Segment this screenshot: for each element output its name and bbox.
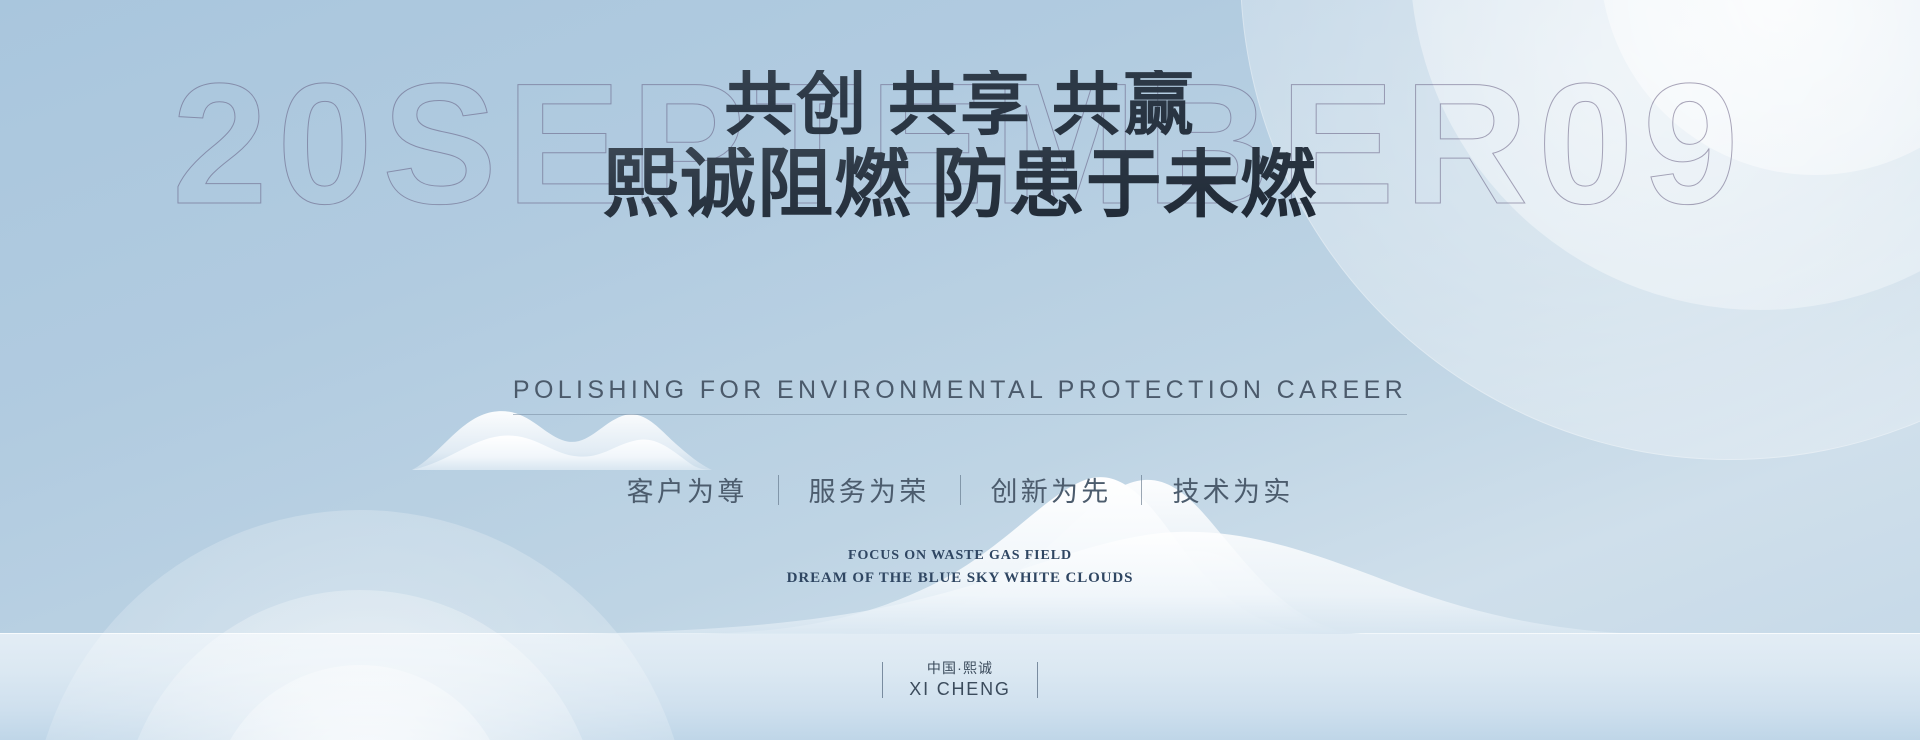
value-item-3: 创新为先 (991, 470, 1112, 509)
ground-edge-line (0, 633, 1920, 634)
sub-english-line-1: FOCUS ON WASTE GAS FIELD (0, 545, 1920, 567)
headline-line-1: 共创 共享 共赢 (0, 70, 1920, 141)
logo-left-bar (882, 662, 883, 698)
tagline: POLISHING FOR ENVIRONMENTAL PROTECTION C… (0, 376, 1920, 415)
banner-canvas: 20SEPTEMBER09 (0, 0, 1920, 740)
logo-right-bar (1037, 662, 1038, 698)
headline-line-2: 熙诚阻燃 防患于未燃 (0, 147, 1920, 225)
brand-logo: 中国·熙诚 XI CHENG (0, 660, 1920, 700)
cloud-left-small (412, 411, 712, 470)
value-separator-1 (778, 475, 779, 505)
logo-text: 中国·熙诚 XI CHENG (909, 660, 1010, 700)
sub-english: FOCUS ON WASTE GAS FIELD DREAM OF THE BL… (0, 545, 1920, 590)
values-row: 客户为尊 服务为荣 创新为先 技术为实 (0, 470, 1920, 509)
sub-english-line-2: DREAM OF THE BLUE SKY WHITE CLOUDS (0, 567, 1920, 590)
value-item-4: 技术为实 (1172, 470, 1293, 509)
value-item-2: 服务为荣 (809, 470, 930, 509)
value-separator-2 (960, 475, 961, 505)
headline: 共创 共享 共赢 熙诚阻燃 防患于未燃 (0, 70, 1920, 225)
value-item-1: 客户为尊 (627, 470, 748, 509)
tagline-text: POLISHING FOR ENVIRONMENTAL PROTECTION C… (513, 376, 1407, 415)
value-separator-3 (1141, 475, 1142, 505)
logo-chinese: 中国·熙诚 (909, 660, 1010, 678)
logo-english: XI CHENG (909, 678, 1010, 701)
